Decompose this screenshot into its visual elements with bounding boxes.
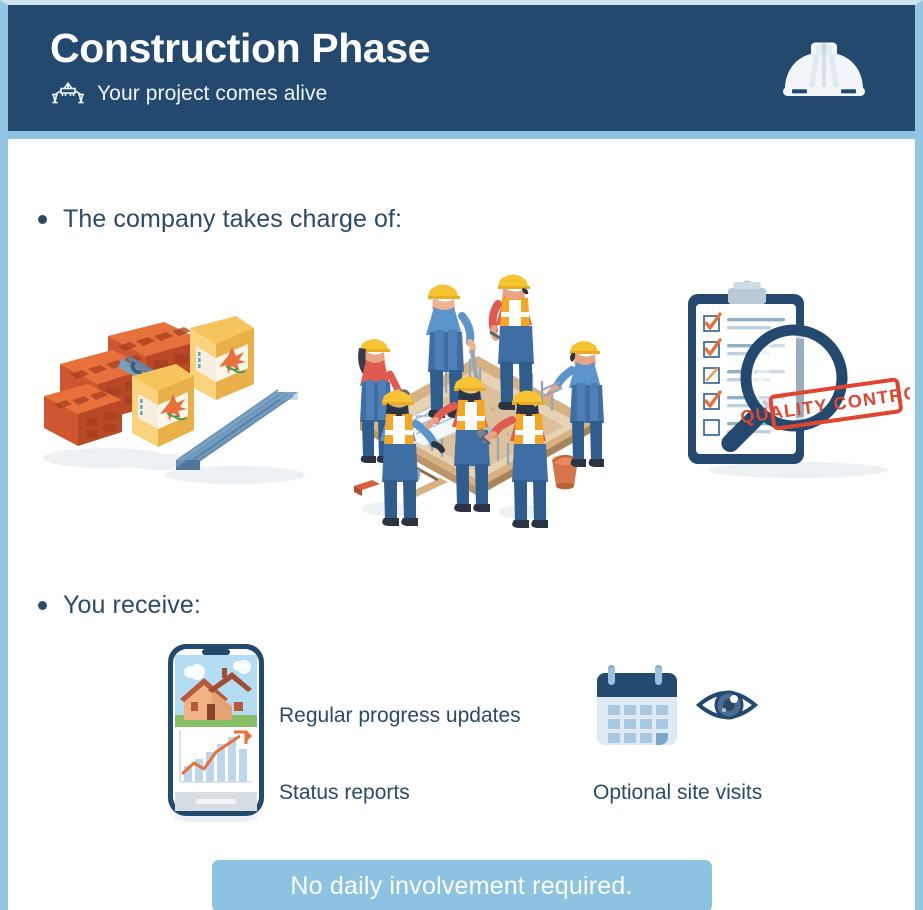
construction-workers-illustration bbox=[328, 264, 628, 529]
no-daily-involvement-banner: No daily involvement required. bbox=[212, 860, 712, 910]
bullet-you-receive: You receive: bbox=[8, 591, 915, 620]
hard-hat-icon bbox=[781, 41, 867, 99]
bullet-dot-icon bbox=[38, 215, 47, 224]
bullet-receive-label: You receive: bbox=[63, 591, 201, 620]
company-responsibilities-illustrations: QUALITY CONTROL bbox=[8, 256, 915, 536]
page-body: The company takes charge of: bbox=[8, 205, 915, 910]
label-optional-site-visits: Optional site visits bbox=[593, 781, 762, 805]
label-status-reports: Status reports bbox=[279, 781, 410, 805]
smartphone-progress-chart-illustration bbox=[160, 642, 272, 822]
bullet-company-takes-charge: The company takes charge of: bbox=[8, 205, 915, 234]
bullet-company-label: The company takes charge of: bbox=[63, 205, 402, 234]
page-subtitle: Your project comes alive bbox=[97, 82, 327, 106]
bullet-dot-icon bbox=[38, 601, 47, 610]
bridge-construction-icon bbox=[50, 80, 86, 108]
label-regular-progress-updates: Regular progress updates bbox=[279, 704, 521, 728]
construction-materials-illustration bbox=[30, 300, 320, 490]
construction-phase-card: Construction Phase Your project comes al… bbox=[0, 0, 923, 910]
footer-banner-wrapper: No daily involvement required. bbox=[8, 860, 915, 910]
calendar-icon bbox=[591, 663, 683, 749]
quality-control-illustration: QUALITY CONTROL bbox=[670, 274, 910, 484]
receive-items-grid: Regular progress updates Status reports bbox=[8, 638, 915, 838]
page-header: Construction Phase Your project comes al… bbox=[8, 5, 915, 139]
eye-icon bbox=[696, 682, 758, 728]
